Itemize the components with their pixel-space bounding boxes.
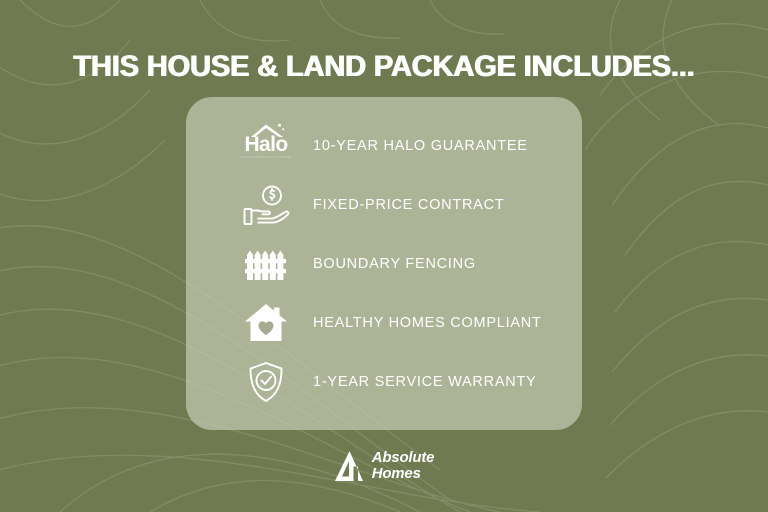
list-item-label: FIXED-PRICE CONTRACT: [313, 197, 504, 213]
shield-check-icon: [230, 356, 302, 408]
list-item-label: 10-YEAR HALO GUARANTEE: [313, 138, 528, 154]
list-item: BOUNDARY FENCING: [186, 234, 582, 293]
halo-subtext: 10 YEAR RESIDENTIAL GUARANTEE: [236, 156, 296, 159]
list-item-label: BOUNDARY FENCING: [313, 256, 476, 272]
house-heart-icon: [230, 297, 302, 349]
halo-logo-icon: Halo 10 YEAR RESIDENTIAL GUARANTEE: [230, 120, 302, 172]
hand-holding-coin-icon: [230, 179, 302, 231]
list-item: HEALTHY HOMES COMPLIANT: [186, 293, 582, 352]
brand-name-line-2: Homes: [372, 466, 435, 482]
page-title: THIS HOUSE & LAND PACKAGE INCLUDES...: [12, 50, 757, 84]
list-item: FIXED-PRICE CONTRACT: [186, 175, 582, 234]
list-item-label: HEALTHY HOMES COMPLIANT: [313, 315, 542, 331]
brand-name-line-1: Absolute: [372, 450, 435, 466]
list-item: Halo 10 YEAR RESIDENTIAL GUARANTEE 10-YE…: [186, 116, 582, 175]
absolute-homes-monogram-icon: [334, 449, 364, 483]
fence-icon: [230, 238, 302, 290]
brand-footer: Absolute Homes: [0, 449, 768, 483]
features-list: Halo 10 YEAR RESIDENTIAL GUARANTEE 10-YE…: [186, 97, 582, 430]
list-item: 1-YEAR SERVICE WARRANTY: [186, 352, 582, 411]
promo-poster: THIS HOUSE & LAND PACKAGE INCLUDES... Ha…: [0, 0, 768, 512]
list-item-label: 1-YEAR SERVICE WARRANTY: [313, 374, 537, 390]
